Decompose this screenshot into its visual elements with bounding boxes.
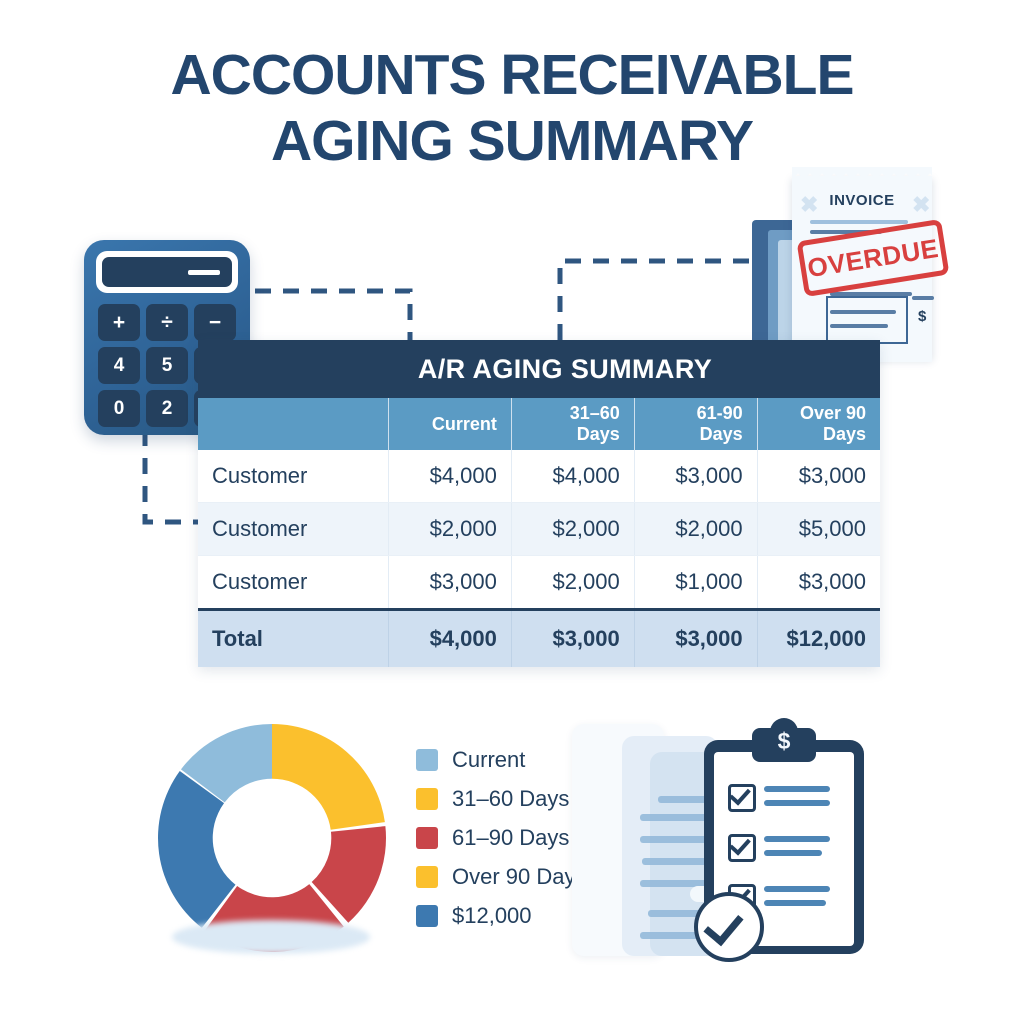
legend-label: $12,000 xyxy=(452,903,532,929)
connector-calculator-to-table xyxy=(255,291,410,340)
calculator-display-screen xyxy=(102,257,232,287)
cell-current: $2,000 xyxy=(389,503,512,556)
page-title-line-1: ACCOUNTS RECEIVABLE xyxy=(171,43,854,107)
column-header-customer[interactable] xyxy=(198,398,389,450)
column-header-current[interactable]: Current xyxy=(389,398,512,450)
ar-aging-table-card: A/R AGING SUMMARY Current 31–60 Days 61-… xyxy=(198,340,880,667)
cell-31-60-days: $2,000 xyxy=(511,503,634,556)
table-body: Customer $4,000 $4,000 $3,000 $3,000 Cus… xyxy=(198,450,880,610)
calculator-key-4[interactable]: 4 xyxy=(98,347,140,384)
invoice-text-line xyxy=(810,220,908,224)
checkbox-checked-icon[interactable] xyxy=(728,834,756,862)
check-badge-icon xyxy=(694,892,764,962)
cell-total-31-60-days: $3,000 xyxy=(511,610,634,668)
calculator-key-5[interactable]: 5 xyxy=(146,347,188,384)
legend-label: Over 90 Days xyxy=(452,864,587,890)
legend-label: 61–90 Days xyxy=(452,825,569,851)
clipboard-illustration: $ xyxy=(696,718,872,962)
invoice-text-line xyxy=(912,296,934,300)
cell-total-61-90-days: $3,000 xyxy=(634,610,757,668)
connector-table-to-invoice xyxy=(560,261,768,340)
invoice-heading: INVOICE xyxy=(792,192,932,209)
checklist-line xyxy=(764,800,830,806)
column-header-over-90-days[interactable]: Over 90 Days xyxy=(757,398,880,450)
cell-61-90-days: $3,000 xyxy=(634,450,757,503)
legend-swatch-icon xyxy=(416,827,438,849)
invoice-text-line xyxy=(830,324,888,328)
cell-31-60-days: $2,000 xyxy=(511,556,634,610)
cell-total-over-90-days: $12,000 xyxy=(757,610,880,668)
dollar-sign-icon: $ xyxy=(752,724,816,758)
cell-customer-label: Customer xyxy=(198,503,389,556)
checkbox-checked-icon[interactable] xyxy=(728,784,756,812)
calculator-key-divide[interactable]: ÷ xyxy=(146,304,188,341)
table-header-row: Current 31–60 Days 61-90 Days Over 90 Da… xyxy=(198,398,880,450)
cell-61-90-days: $2,000 xyxy=(634,503,757,556)
invoice-text-line xyxy=(830,310,896,314)
connector-calculator-to-rows xyxy=(145,430,200,522)
checklist-line xyxy=(764,786,830,792)
table-foot: Total $4,000 $3,000 $3,000 $12,000 xyxy=(198,610,880,668)
calculator-key-minus[interactable]: − xyxy=(194,304,236,341)
table-banner: A/R AGING SUMMARY xyxy=(198,340,880,398)
calculator-key-0[interactable]: 0 xyxy=(98,390,140,427)
table-row[interactable]: Customer $2,000 $2,000 $2,000 $5,000 xyxy=(198,503,880,556)
cell-current: $3,000 xyxy=(389,556,512,610)
legend-swatch-icon xyxy=(416,749,438,771)
legend-swatch-icon xyxy=(416,788,438,810)
cell-over-90-days: $3,000 xyxy=(757,556,880,610)
invoice-torn-edge-top xyxy=(792,167,932,179)
column-header-31-60-days[interactable]: 31–60 Days xyxy=(511,398,634,450)
legend-swatch-icon xyxy=(416,905,438,927)
invoice-currency-mark: $ xyxy=(918,308,926,325)
cell-61-90-days: $1,000 xyxy=(634,556,757,610)
cell-total-label: Total xyxy=(198,610,389,668)
cell-31-60-days: $4,000 xyxy=(511,450,634,503)
donut-segment[interactable] xyxy=(272,724,385,830)
infographic-canvas: ACCOUNTS RECEIVABLE AGING SUMMARY + ÷ − … xyxy=(0,0,1024,1024)
cell-current: $4,000 xyxy=(389,450,512,503)
legend-label: 31–60 Days xyxy=(452,786,569,812)
cell-over-90-days: $5,000 xyxy=(757,503,880,556)
donut-shadow xyxy=(172,920,370,954)
calculator-display xyxy=(96,251,238,293)
checklist-line xyxy=(764,850,822,856)
invoice-amount-box xyxy=(826,296,908,344)
legend-label: Current xyxy=(452,747,525,773)
cell-total-current: $4,000 xyxy=(389,610,512,668)
table-total-row: Total $4,000 $3,000 $3,000 $12,000 xyxy=(198,610,880,668)
calculator-key-plus[interactable]: + xyxy=(98,304,140,341)
cell-over-90-days: $3,000 xyxy=(757,450,880,503)
table-head: Current 31–60 Days 61-90 Days Over 90 Da… xyxy=(198,398,880,450)
legend-swatch-icon xyxy=(416,866,438,888)
cell-customer-label: Customer xyxy=(198,450,389,503)
checklist-line xyxy=(764,886,830,892)
column-header-61-90-days[interactable]: 61-90 Days xyxy=(634,398,757,450)
checklist-line xyxy=(764,836,830,842)
ar-aging-table: Current 31–60 Days 61-90 Days Over 90 Da… xyxy=(198,398,880,667)
donut-chart xyxy=(146,712,398,970)
table-row[interactable]: Customer $4,000 $4,000 $3,000 $3,000 xyxy=(198,450,880,503)
checklist-line xyxy=(764,900,826,906)
cell-customer-label: Customer xyxy=(198,556,389,610)
page-title: ACCOUNTS RECEIVABLE AGING SUMMARY xyxy=(0,42,1024,174)
calculator-key-2[interactable]: 2 xyxy=(146,390,188,427)
page-title-line-2: AGING SUMMARY xyxy=(0,108,1024,174)
table-row[interactable]: Customer $3,000 $2,000 $1,000 $3,000 xyxy=(198,556,880,610)
